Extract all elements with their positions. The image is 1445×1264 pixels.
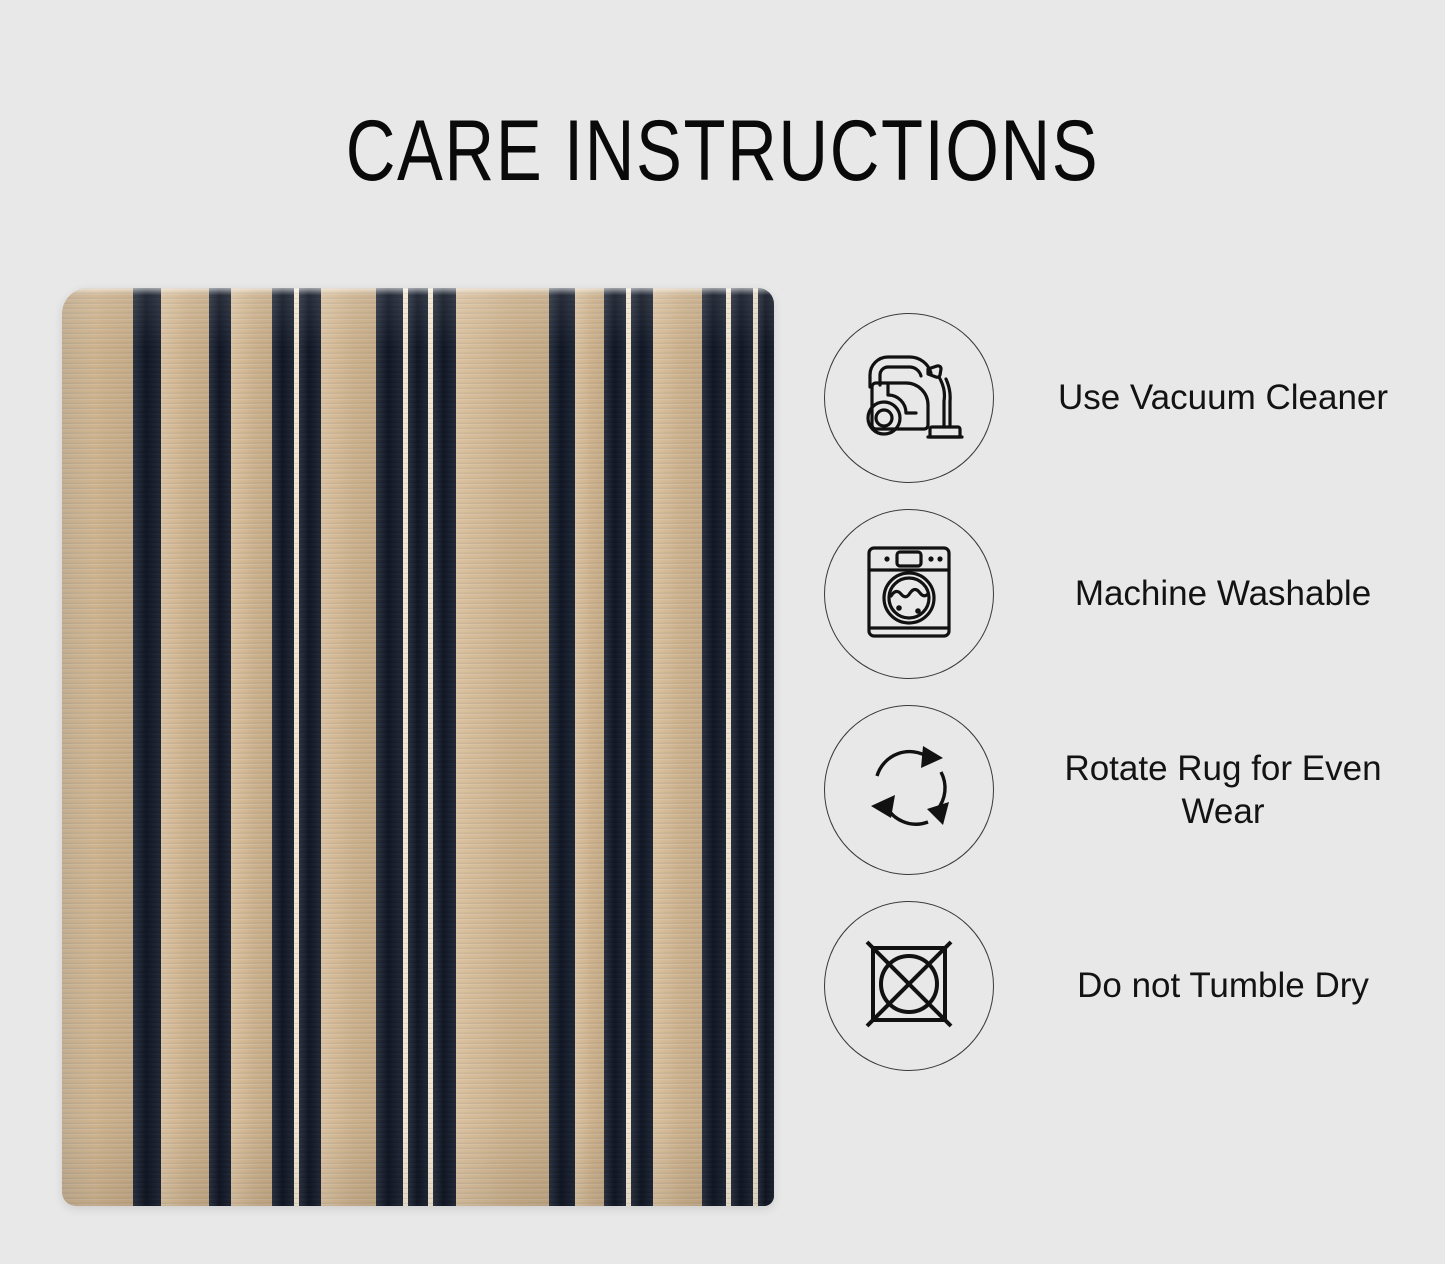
care-icon-badge	[824, 705, 994, 875]
rug-stripe	[133, 288, 162, 1206]
rug-stripe	[653, 288, 702, 1206]
rug-stripe	[209, 288, 232, 1206]
rug-stripe	[231, 288, 272, 1206]
rotate-arrows-icon	[853, 732, 965, 849]
care-item-do-not-tumble-dry: Do not Tumble Dry	[824, 888, 1424, 1084]
rug-stripe	[272, 288, 295, 1206]
product-image-rug	[62, 288, 774, 1206]
care-icon-badge	[824, 313, 994, 483]
rug-stripe	[376, 288, 403, 1206]
rug-stripe	[604, 288, 627, 1206]
rug-stripe	[575, 288, 604, 1206]
rug-stripe	[433, 288, 456, 1206]
care-item-label: Do not Tumble Dry	[1028, 964, 1424, 1007]
rug-stripe	[731, 288, 753, 1206]
rug-surface	[62, 288, 774, 1206]
care-item-label: Machine Washable	[1028, 572, 1424, 615]
page-title: CARE INSTRUCTIONS	[145, 108, 1301, 194]
rug-stripe-pattern	[62, 288, 774, 1206]
washing-machine-icon	[855, 538, 963, 651]
care-item-label: Use Vacuum Cleaner	[1028, 376, 1424, 419]
rug-stripe	[631, 288, 654, 1206]
care-item-vacuum: Use Vacuum Cleaner	[824, 300, 1424, 496]
rug-stripe	[408, 288, 429, 1206]
rug-stripe	[758, 288, 774, 1206]
vacuum-cleaner-icon	[854, 341, 964, 456]
rug-stripe	[299, 288, 321, 1206]
care-instruction-list: Use Vacuum Cleaner	[824, 300, 1424, 1084]
rug-stripe	[161, 288, 209, 1206]
rug-stripe	[62, 288, 134, 1206]
care-item-label: Rotate Rug for Even Wear	[1028, 747, 1424, 834]
care-icon-badge	[824, 901, 994, 1071]
rug-stripe	[549, 288, 576, 1206]
do-not-tumble-dry-icon	[857, 932, 961, 1041]
rug-stripe	[702, 288, 727, 1206]
care-item-rotate: Rotate Rug for Even Wear	[824, 692, 1424, 888]
rug-stripe	[456, 288, 550, 1206]
rug-stripe	[321, 288, 377, 1206]
care-item-machine-washable: Machine Washable	[824, 496, 1424, 692]
care-icon-badge	[824, 509, 994, 679]
